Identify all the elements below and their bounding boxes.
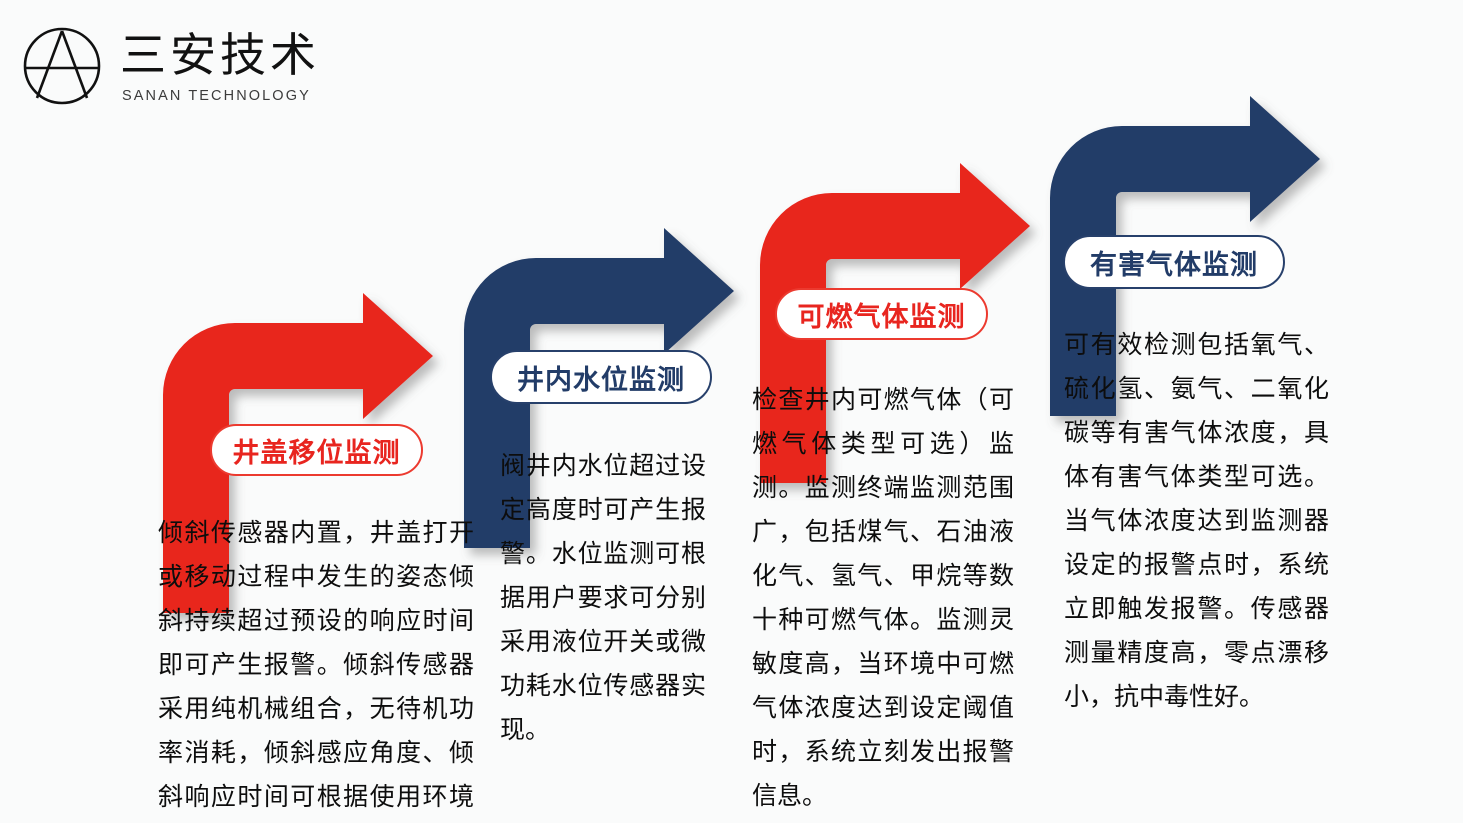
step-4-badge[interactable]: 有害气体监测 [1063, 235, 1285, 289]
brand-logo: 三安技术 SANAN TECHNOLOGY [22, 22, 322, 112]
step-1-description: 倾斜传感器内置，井盖打开或移动过程中发生的姿态倾斜持续超过预设的响应时间即可产生… [158, 511, 474, 823]
brand-name-en: SANAN TECHNOLOGY [122, 88, 311, 104]
step-3-badge[interactable]: 可燃气体监测 [775, 288, 988, 340]
step-1-badge[interactable]: 井盖移位监测 [210, 424, 423, 476]
step-3-description: 检查井内可燃气体（可燃气体类型可选）监测。监测终端监测范围广，包括煤气、石油液化… [752, 378, 1014, 818]
step-2-badge[interactable]: 井内水位监测 [490, 350, 712, 404]
slide-canvas: 三安技术 SANAN TECHNOLOGY [0, 0, 1463, 823]
step-4-description: 可有效检测包括氧气、硫化氢、氨气、二氧化碳等有害气体浓度，具体有害气体类型可选。… [1064, 323, 1329, 719]
step-2-description: 阀井内水位超过设定高度时可产生报警。水位监测可根据用户要求可分别采用液位开关或微… [500, 444, 706, 752]
sanan-circle-a-logo-icon [22, 26, 102, 106]
brand-name-cn: 三安技术 [120, 28, 320, 82]
